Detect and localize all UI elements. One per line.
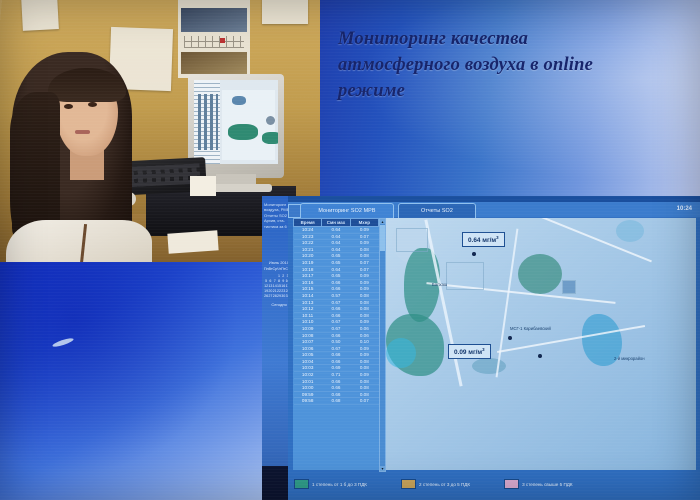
cell-value-1: 0.64	[322, 266, 350, 273]
table-row[interactable]: 10:240.640.09	[294, 227, 379, 234]
presentation-slide: Мониторинг качества атмосферного воздуха…	[320, 0, 700, 196]
table-body[interactable]: 10:240.640.0910:230.640.0710:220.640.091…	[294, 227, 379, 405]
map-callout-2[interactable]: 0.09 мг/м3	[448, 344, 491, 359]
map-label-2: 2-й микрорайон	[614, 356, 645, 361]
table-row[interactable]: 10:060.670.09	[294, 345, 379, 352]
cell-time: 10:20	[294, 253, 322, 260]
cell-value-2: 0.08	[350, 312, 378, 319]
calendar-grid	[184, 36, 244, 48]
slide-title-line-2: атмосферного воздуха в online	[338, 55, 593, 75]
cell-value-2: 0.09	[350, 319, 378, 326]
person-eye-right	[88, 102, 97, 107]
map-legend: 1 степень от 1 б до 3 ПДК2 степень от 3 …	[294, 474, 696, 494]
table-row[interactable]: 10:080.660.06	[294, 332, 379, 339]
table-row[interactable]: 10:000.660.08	[294, 385, 379, 392]
cell-value-1: 0.67	[322, 325, 350, 332]
table-row[interactable]: 10:150.660.09	[294, 286, 379, 293]
map-city-block-2	[446, 262, 484, 290]
cell-value-1: 0.66	[322, 385, 350, 392]
calendar-marked-day	[220, 38, 225, 43]
callout-unit-1: мг/м	[482, 237, 496, 244]
map-callout-1[interactable]: 0.64 мг/м3	[462, 232, 505, 247]
legend-label: 2 степень от 3 до 5 ПДК	[419, 482, 470, 487]
cell-value-2: 0.06	[350, 325, 378, 332]
air-quality-monitoring-app: Мониторинг SO2 МРВ Отчеты SO2 10:24 Врем…	[288, 196, 700, 500]
table-row[interactable]: 10:030.690.08	[294, 365, 379, 372]
legend-label: 1 степень от 1 б до 3 ПДК	[312, 482, 367, 487]
column-header-value-1: Смн мах	[322, 219, 350, 227]
cell-value-2: 0.09	[350, 352, 378, 359]
table-header-row: Время Смн мах Мхнр	[294, 219, 379, 227]
tab-reports-so2[interactable]: Отчеты SO2	[398, 203, 476, 218]
cell-value-2: 0.08	[350, 358, 378, 365]
cell-value-1: 0.64	[322, 233, 350, 240]
measurements-table[interactable]: Время Смн мах Мхнр 10:240.640.0910:230.6…	[293, 218, 379, 405]
cell-value-2: 0.08	[350, 391, 378, 398]
calendar-photo-bottom	[181, 52, 247, 74]
table-row[interactable]: 10:120.660.08	[294, 306, 379, 313]
blue-gradient-panel	[0, 262, 266, 500]
slide-title: Мониторинг качества атмосферного воздуха…	[338, 26, 686, 104]
monitoring-station-marker-3[interactable]	[538, 354, 542, 358]
cell-value-1: 0.57	[322, 292, 350, 299]
cell-value-1: 0.66	[322, 391, 350, 398]
measurements-table-panel[interactable]: Время Смн мах Мхнр 10:240.640.0910:230.6…	[293, 218, 379, 470]
map-industrial-site	[562, 280, 576, 294]
legend-color-swatch	[401, 479, 416, 489]
cell-value-1: 0.68	[322, 398, 350, 405]
cell-value-1: 0.65	[322, 259, 350, 266]
callout-value-1: 0.64	[468, 237, 480, 244]
column-header-time: Время	[294, 219, 322, 227]
cell-value-1: 0.65	[322, 253, 350, 260]
callout-exponent-1: 3	[496, 235, 498, 240]
cell-time: 10:23	[294, 233, 322, 240]
table-row[interactable]: 10:050.660.09	[294, 352, 379, 359]
map-pond	[472, 358, 506, 374]
cell-time: 09:59	[294, 391, 322, 398]
cell-time: 10:09	[294, 325, 322, 332]
cell-time: 10:01	[294, 378, 322, 385]
table-row[interactable]: 10:110.660.08	[294, 312, 379, 319]
cell-value-1: 0.64	[322, 240, 350, 247]
cell-time: 10:10	[294, 319, 322, 326]
person-operator	[12, 52, 144, 268]
cell-value-1: 0.66	[322, 279, 350, 286]
map-city-block-1	[396, 228, 428, 252]
map-label-0: Балхаш	[432, 282, 447, 287]
app-clock: 10:24	[677, 206, 692, 212]
table-row[interactable]: 10:220.640.09	[294, 240, 379, 247]
cell-value-1: 0.66	[322, 352, 350, 359]
cell-value-2: 0.10	[350, 339, 378, 346]
scroll-down-arrow-icon[interactable]: ▾	[380, 466, 385, 471]
table-scrollbar[interactable]: ▴ ▾	[379, 218, 386, 472]
table-row[interactable]: 10:180.640.07	[294, 266, 379, 273]
map-lake	[386, 338, 416, 368]
cell-value-2: 0.09	[350, 273, 378, 280]
cell-value-1: 0.64	[322, 227, 350, 234]
table-row[interactable]: 10:200.650.08	[294, 253, 379, 260]
cell-value-1: 0.66	[322, 332, 350, 339]
cell-time: 10:21	[294, 246, 322, 253]
cell-time: 10:07	[294, 339, 322, 346]
calendar-photo-top	[181, 8, 247, 32]
cell-value-1: 0.66	[322, 378, 350, 385]
screen-map-water	[232, 96, 246, 105]
cell-time: 10:11	[294, 312, 322, 319]
table-row[interactable]: 09:580.680.07	[294, 398, 379, 405]
cell-time: 10:08	[294, 332, 322, 339]
table-row[interactable]: 10:210.640.08	[294, 246, 379, 253]
cell-time: 10:17	[294, 273, 322, 280]
map-label-1: МСГ-1 Карибаевский	[510, 326, 551, 331]
callout-unit-2: мг/м	[468, 349, 482, 356]
cell-time: 10:24	[294, 227, 322, 234]
cell-value-1: 0.65	[322, 273, 350, 280]
legend-item-3: 3 степень свыше 5 ПДК	[504, 479, 572, 489]
person-mouth	[75, 130, 90, 134]
callout-value-2: 0.09	[454, 349, 466, 356]
table-row[interactable]: 10:230.640.07	[294, 233, 379, 240]
cell-value-2: 0.08	[350, 365, 378, 372]
slide-title-line-1: Мониторинг качества	[338, 29, 528, 49]
cell-value-2: 0.08	[350, 253, 378, 260]
legend-color-swatch	[504, 479, 519, 489]
table-row[interactable]: 10:070.500.10	[294, 339, 379, 346]
desk-paper	[167, 230, 218, 253]
cell-value-2: 0.08	[350, 299, 378, 306]
sticky-note-on-monitor	[190, 176, 216, 196]
legend-label: 3 степень свыше 5 ПДК	[522, 482, 572, 487]
legend-color-swatch	[294, 479, 309, 489]
cell-value-2: 0.07	[350, 266, 378, 273]
cell-value-2: 0.07	[350, 233, 378, 240]
table-row[interactable]: 09:590.660.08	[294, 391, 379, 398]
cell-value-2: 0.06	[350, 332, 378, 339]
cell-value-1: 0.67	[322, 319, 350, 326]
callout-exponent-2: 3	[482, 347, 484, 352]
table-row[interactable]: 10:170.650.09	[294, 273, 379, 280]
column-header-value-2: Мхнр	[350, 219, 378, 227]
screen-map	[222, 90, 275, 160]
person-eye-left	[64, 104, 73, 109]
slide-title-line-3: режиме	[338, 81, 405, 101]
cell-time: 10:12	[294, 306, 322, 313]
cell-time: 10:06	[294, 345, 322, 352]
panel-glow	[0, 262, 266, 500]
monitoring-station-marker-2[interactable]	[508, 336, 512, 340]
table-row[interactable]: 10:190.650.07	[294, 259, 379, 266]
wall-paper-note-3	[262, 0, 308, 24]
legend-item-1: 1 степень от 1 б до 3 ПДК	[294, 479, 367, 489]
cell-time: 10:19	[294, 259, 322, 266]
screen-map-plume	[266, 116, 275, 125]
cell-value-2: 0.09	[350, 279, 378, 286]
cell-value-2: 0.07	[350, 398, 378, 405]
screenshot-collage: Мониторинг качества атмосферного воздуха…	[0, 0, 700, 500]
cell-value-2: 0.08	[350, 292, 378, 299]
cell-time: 10:03	[294, 365, 322, 372]
cell-value-1: 0.67	[322, 299, 350, 306]
cell-time: 10:15	[294, 286, 322, 293]
cell-time: 10:02	[294, 372, 322, 379]
cell-value-1: 0.50	[322, 339, 350, 346]
screen-map-zone-2	[262, 132, 278, 144]
cell-value-1: 0.64	[322, 246, 350, 253]
cell-time: 10:14	[294, 292, 322, 299]
cell-time: 10:04	[294, 358, 322, 365]
tab-monitoring-so2[interactable]: Мониторинг SO2 МРВ	[300, 203, 394, 218]
person-torso	[6, 220, 152, 268]
cell-value-1: 0.67	[322, 345, 350, 352]
wall-calendar	[178, 0, 250, 78]
screen-map-zone-1	[228, 124, 258, 140]
cell-value-2: 0.09	[350, 240, 378, 247]
cell-value-1: 0.71	[322, 372, 350, 379]
cell-time: 10:00	[294, 385, 322, 392]
cell-value-1: 0.69	[322, 365, 350, 372]
cell-value-2: 0.09	[350, 227, 378, 234]
cell-value-1: 0.66	[322, 306, 350, 313]
monitoring-station-marker-1[interactable]	[472, 252, 476, 256]
cell-value-2: 0.09	[350, 286, 378, 293]
table-row[interactable]: 10:140.570.08	[294, 292, 379, 299]
pollution-map[interactable]: Балхаш МСГ-1 Карибаевский 2-й микрорайон…	[386, 218, 696, 470]
cell-value-2: 0.09	[350, 372, 378, 379]
cell-value-2: 0.08	[350, 246, 378, 253]
map-green-zone	[518, 254, 562, 294]
cell-time: 09:58	[294, 398, 322, 405]
cell-time: 10:18	[294, 266, 322, 273]
cell-value-1: 0.66	[322, 286, 350, 293]
cell-time: 10:16	[294, 279, 322, 286]
table-row[interactable]: 10:020.710.09	[294, 372, 379, 379]
cell-value-2: 0.08	[350, 385, 378, 392]
cell-value-2: 0.09	[350, 345, 378, 352]
table-row[interactable]: 10:160.660.09	[294, 279, 379, 286]
cell-value-1: 0.66	[322, 358, 350, 365]
scroll-up-arrow-icon[interactable]: ▴	[380, 219, 385, 224]
table-row[interactable]: 10:010.660.08	[294, 378, 379, 385]
legend-item-2: 2 степень от 3 до 5 ПДК	[401, 479, 470, 489]
cell-value-2: 0.07	[350, 259, 378, 266]
wall-paper-note-1	[21, 0, 59, 31]
scrollbar-thumb[interactable]	[380, 225, 385, 251]
map-river-2	[496, 229, 519, 378]
map-water-body-4	[616, 220, 644, 242]
cell-time: 10:22	[294, 240, 322, 247]
cell-time: 10:05	[294, 352, 322, 359]
cell-value-2: 0.08	[350, 378, 378, 385]
screen-chart-bars	[198, 94, 218, 150]
cell-value-2: 0.08	[350, 306, 378, 313]
table-row[interactable]: 10:130.670.08	[294, 299, 379, 306]
app-tab-bar[interactable]: Мониторинг SO2 МРВ Отчеты SO2	[288, 202, 700, 217]
table-row[interactable]: 10:090.670.06	[294, 325, 379, 332]
cell-value-1: 0.66	[322, 312, 350, 319]
cell-time: 10:13	[294, 299, 322, 306]
table-row[interactable]: 10:040.660.08	[294, 358, 379, 365]
table-row[interactable]: 10:100.670.09	[294, 319, 379, 326]
monitor-screen	[194, 80, 278, 164]
